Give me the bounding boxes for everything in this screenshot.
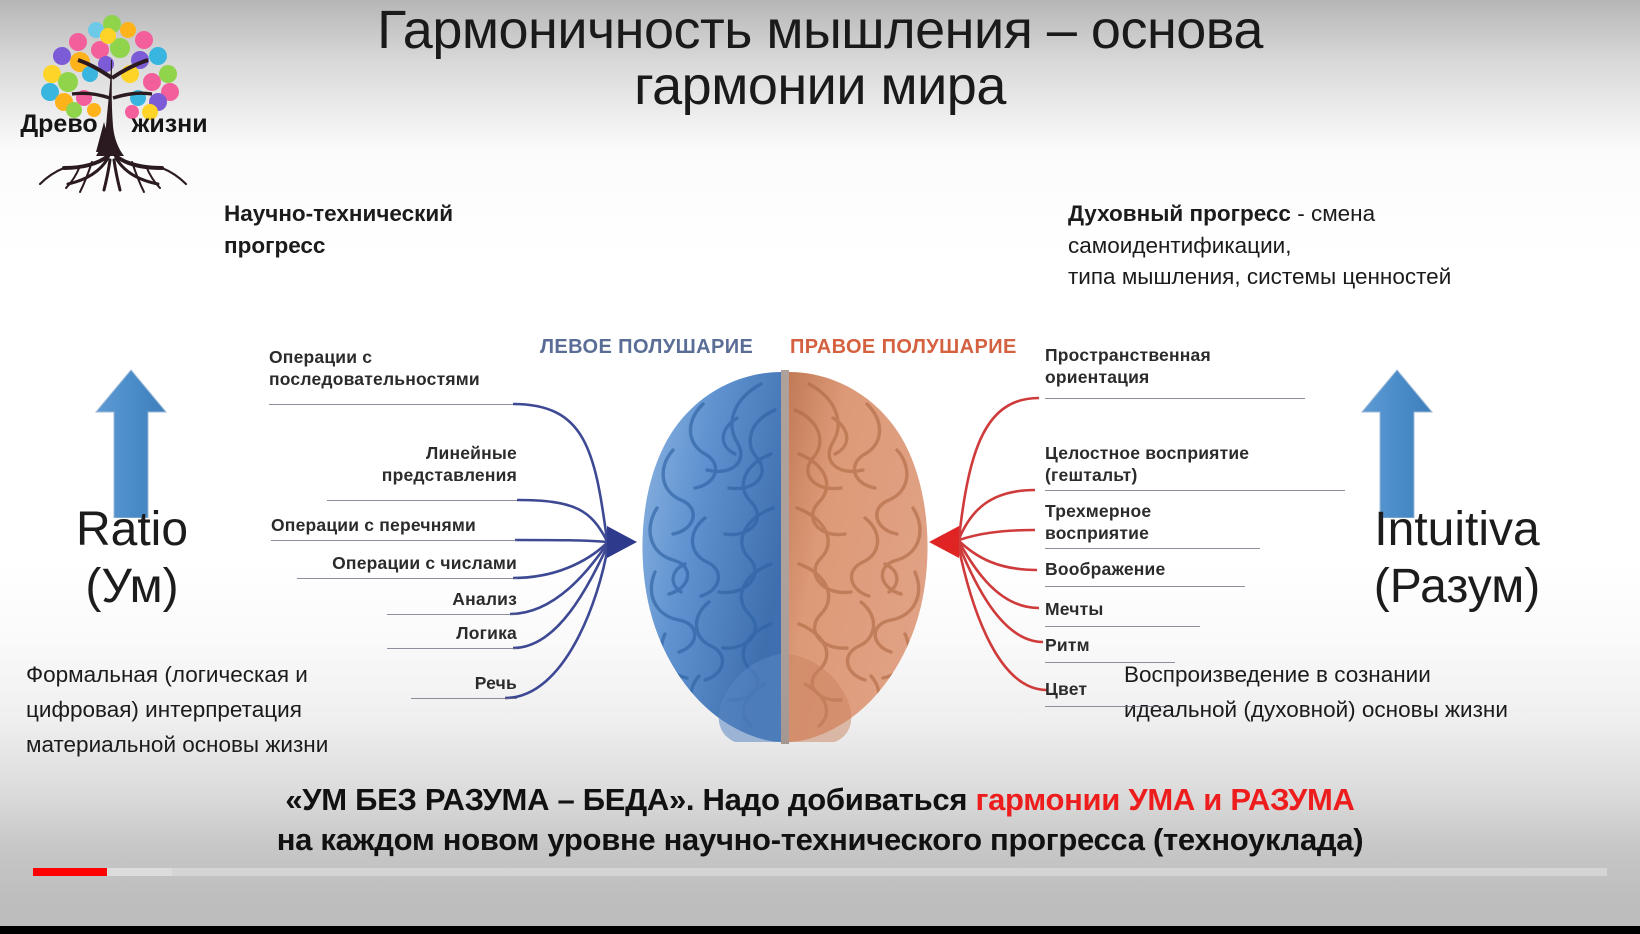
slide-canvas: Древожизни Гармоничность мышления – осно… bbox=[0, 0, 1640, 934]
spiritual-progress-line2: самоидентификации, bbox=[1068, 233, 1291, 258]
left-rule-2 bbox=[271, 540, 517, 541]
left-rule-6 bbox=[411, 698, 517, 699]
left-rule-5 bbox=[387, 648, 517, 649]
right-rule-1 bbox=[1045, 490, 1345, 491]
left-rule-1 bbox=[327, 500, 517, 501]
left-term-6: Речь bbox=[405, 672, 517, 694]
logo-wordmark: Древожизни bbox=[8, 110, 220, 139]
left-term-0: Операции с последовательностями bbox=[269, 346, 519, 391]
logo-word-right: жизни bbox=[132, 110, 208, 139]
banner-highlight-harmony: гармонии bbox=[975, 782, 1120, 817]
spiritual-progress-bold: Духовный прогресс bbox=[1068, 201, 1291, 226]
ratio-pillar: Ratio (Ум) bbox=[16, 502, 248, 615]
left-term-2: Операции с перечнями bbox=[271, 514, 517, 536]
logo-word-left: Древо bbox=[20, 110, 97, 139]
banner-line-1: «УМ БЕЗ РАЗУМА – БЕДА». Надо добиваться … bbox=[0, 780, 1640, 820]
right-term-5: Ритм bbox=[1045, 634, 1245, 656]
up-arrow-icon-left bbox=[92, 368, 170, 518]
video-played-bar bbox=[33, 868, 107, 876]
brain-illustration bbox=[585, 358, 985, 750]
brain-icon bbox=[585, 358, 985, 750]
right-term-3: Воображение bbox=[1045, 558, 1285, 580]
left-rule-4 bbox=[387, 614, 517, 615]
spiritual-progress-line3: типа мышления, системы ценностей bbox=[1068, 264, 1451, 289]
brain-hemispheres-diagram: ЛЕВОЕ ПОЛУШАРИЕ ПРАВОЕ ПОЛУШАРИЕ bbox=[255, 330, 1385, 750]
ratio-russian: (Ум) bbox=[16, 559, 248, 616]
banner-highlight-mind-reason: УМА и РАЗУМА bbox=[1128, 782, 1354, 817]
spiritual-progress-header: Духовный прогресс - смена самоидентифика… bbox=[1068, 198, 1640, 293]
scientific-progress-header: Научно-технический прогресс bbox=[224, 198, 554, 262]
left-rule-0 bbox=[269, 404, 513, 405]
banner-line1-part-a: «УМ БЕЗ РАЗУМА – БЕДА». Надо добиваться bbox=[285, 782, 975, 817]
right-rule-0 bbox=[1045, 398, 1305, 399]
spiritual-progress-line1: - смена bbox=[1291, 201, 1375, 226]
tree-of-life-icon bbox=[8, 2, 220, 194]
tree-of-life-logo: Древожизни bbox=[8, 2, 220, 194]
banner-line-2: на каждом новом уровне научно-техническо… bbox=[0, 820, 1640, 860]
right-term-4: Мечты bbox=[1045, 598, 1245, 620]
left-term-4: Анализ bbox=[375, 588, 517, 610]
left-term-3: Операции с числами bbox=[297, 552, 517, 574]
right-rule-5 bbox=[1045, 662, 1175, 663]
ratio-latin: Ratio bbox=[16, 502, 248, 559]
right-term-2: Трехмерное восприятие bbox=[1045, 500, 1285, 545]
player-bottom-bar bbox=[0, 926, 1640, 934]
left-rule-3 bbox=[297, 578, 517, 579]
left-term-1: Линейные представления bbox=[313, 442, 517, 487]
right-rule-2 bbox=[1045, 548, 1260, 549]
video-progress-bar[interactable] bbox=[33, 868, 1607, 876]
right-term-0: Пространственная ориентация bbox=[1045, 344, 1305, 389]
right-rule-4 bbox=[1045, 626, 1200, 627]
right-rule-3 bbox=[1045, 586, 1245, 587]
page-title: Гармоничность мышления – основа гармонии… bbox=[290, 2, 1350, 114]
right-term-1: Целостное восприятие (гештальт) bbox=[1045, 442, 1345, 487]
right-rule-6 bbox=[1045, 706, 1165, 707]
bottom-banner: «УМ БЕЗ РАЗУМА – БЕДА». Надо добиваться … bbox=[0, 780, 1640, 861]
left-term-5: Логика bbox=[375, 622, 517, 644]
right-term-6: Цвет bbox=[1045, 678, 1245, 700]
